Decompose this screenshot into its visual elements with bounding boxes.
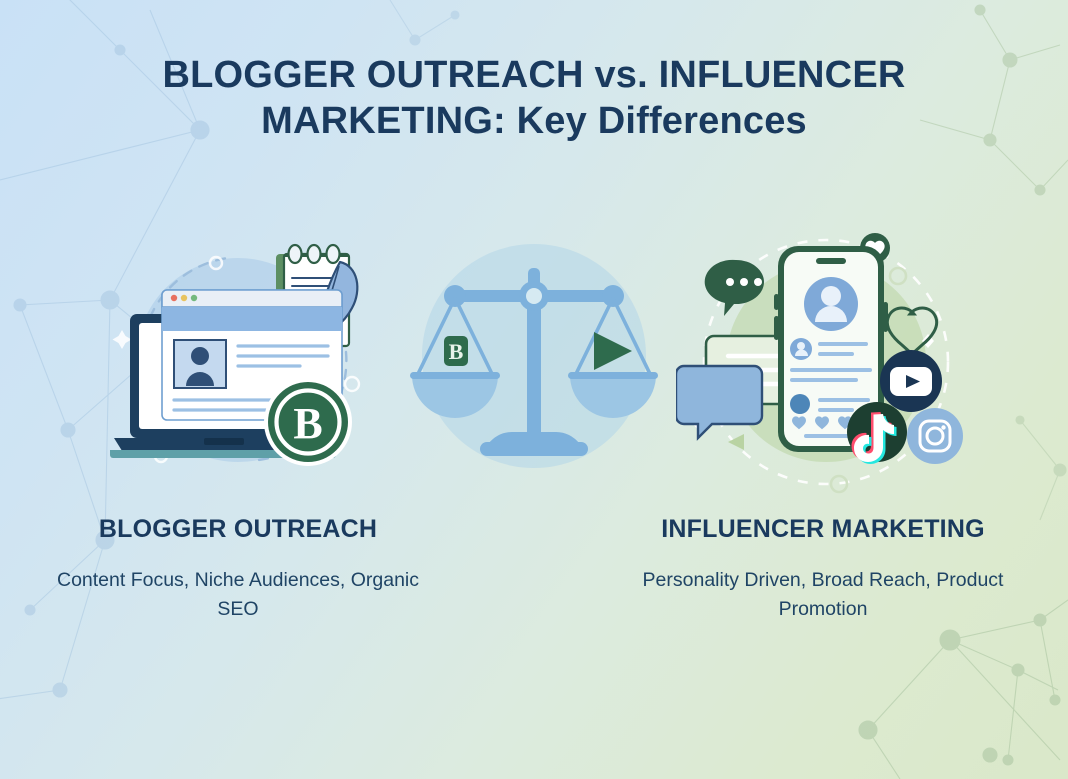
avatar-thumbnail <box>174 340 226 388</box>
instagram-badge-icon <box>907 408 963 464</box>
post-row-avatar <box>790 338 812 360</box>
balance-scales-illustration: B <box>408 232 660 494</box>
browser-dot-red <box>171 295 177 301</box>
title-line-1: BLOGGER OUTREACH vs. INFLUENCER <box>0 52 1068 98</box>
title-line-2-rest: Key Differences <box>506 100 807 142</box>
infographic-canvas: BLOGGER OUTREACH vs. INFLUENCER MARKETIN… <box>0 0 1068 779</box>
illustrations-row: B <box>0 232 1068 494</box>
influencer-marketing-illustration <box>676 232 976 494</box>
post-marker-dot <box>790 394 810 414</box>
profile-avatar <box>804 277 858 331</box>
title-line-2-caps: MARKETING: <box>261 100 506 142</box>
like-hearts <box>792 416 852 429</box>
tiktok-badge-icon <box>847 402 907 464</box>
right-column-heading: INFLUENCER MARKETING <box>628 514 1018 544</box>
phone-speaker <box>816 258 846 264</box>
scale-b-letter: B <box>449 339 464 364</box>
column-right-caption: INFLUENCER MARKETING Personality Driven,… <box>628 514 1018 624</box>
chat-bubble-small <box>676 366 762 438</box>
browser-dot-yellow <box>181 295 187 301</box>
blogger-badge-icon: B <box>264 378 352 466</box>
browser-dot-green <box>191 295 197 301</box>
title-line-2: MARKETING: Key Differences <box>0 98 1068 144</box>
page-title: BLOGGER OUTREACH vs. INFLUENCER MARKETIN… <box>0 52 1068 144</box>
left-column-description: Content Focus, Niche Audiences, Organic … <box>48 566 428 624</box>
right-column-description: Personality Driven, Broad Reach, Product… <box>628 566 1018 624</box>
blogger-outreach-illustration: B <box>108 232 386 494</box>
blogger-badge-letter: B <box>293 399 322 448</box>
blogger-b-icon: B <box>444 336 468 366</box>
youtube-badge-icon <box>880 350 942 412</box>
column-left-caption: BLOGGER OUTREACH Content Focus, Niche Au… <box>48 514 428 624</box>
left-column-heading: BLOGGER OUTREACH <box>48 514 428 544</box>
